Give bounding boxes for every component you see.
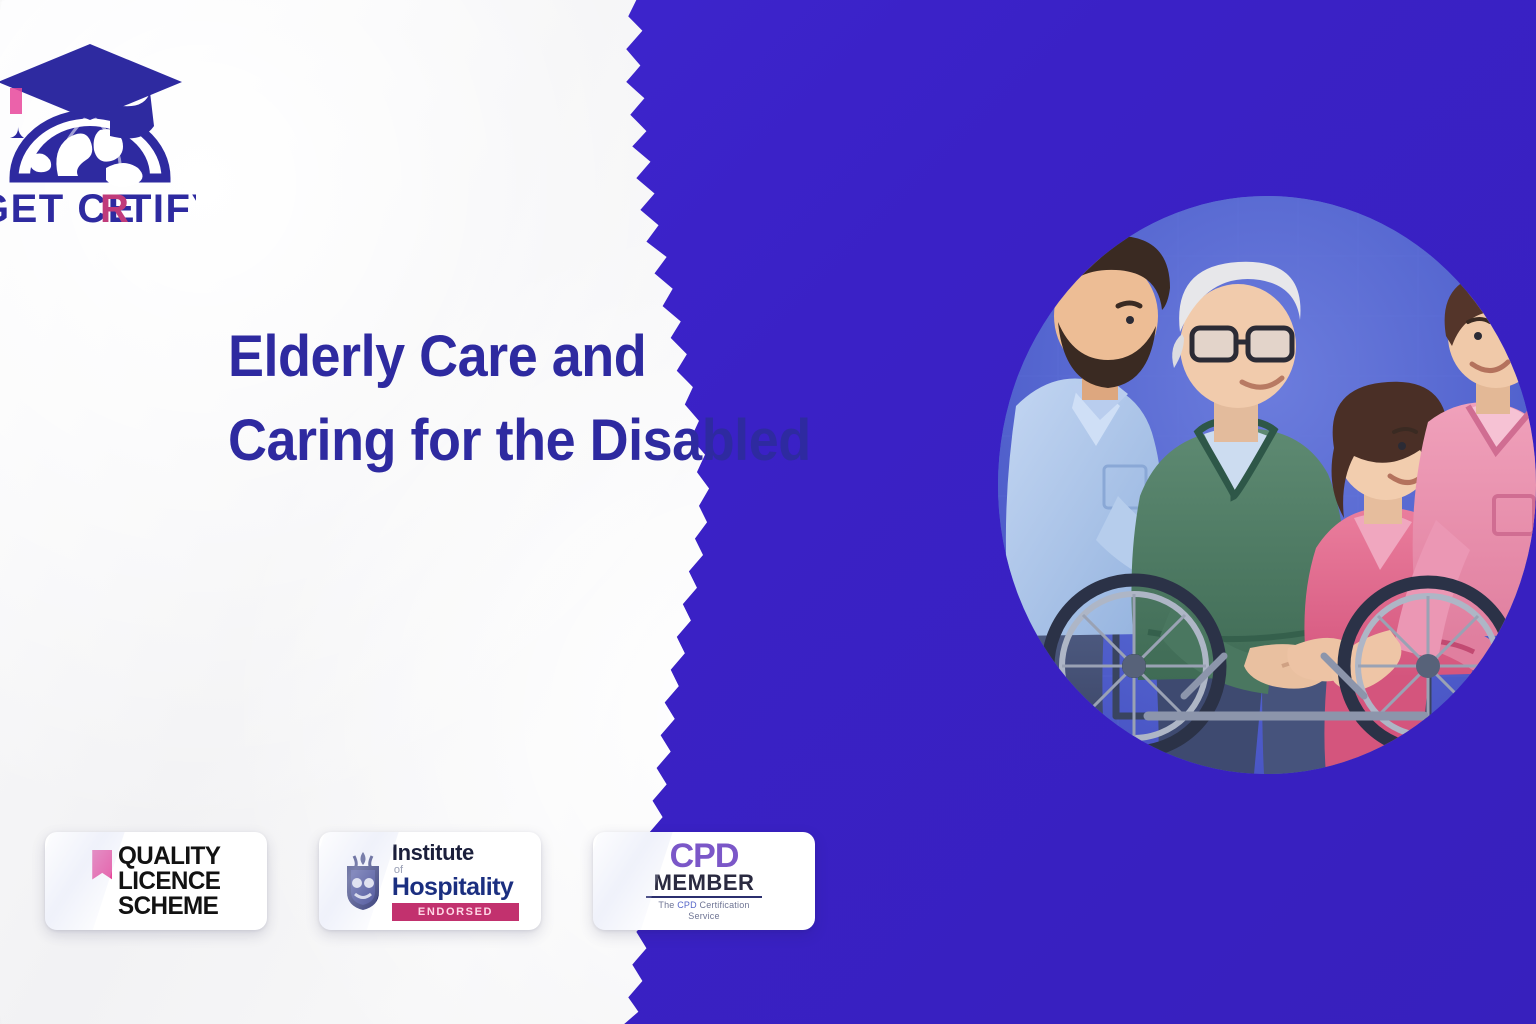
logo-wordmark-tail: TIFY <box>127 187 196 226</box>
logo-wordmark-accent: R <box>100 187 130 226</box>
cpd-line-1: CPD <box>670 840 739 872</box>
accreditation-badges: QUALITY LICENCE SCHEME Institute of Hosp… <box>45 832 815 930</box>
page-title-line-1: Elderly Care and <box>228 315 823 399</box>
badge-institute-of-hospitality[interactable]: Institute of Hospitality ENDORSED <box>319 832 541 930</box>
cpd-line-2: MEMBER <box>654 872 755 894</box>
page-title-line-2: Caring for the Disabled <box>228 399 823 483</box>
ioh-endorsed-tag: ENDORSED <box>392 903 519 921</box>
cpd-sub-line-2: Service <box>688 911 719 921</box>
ioh-line-1: Institute <box>392 842 474 864</box>
cpd-sub-highlight: CPD <box>677 900 697 910</box>
get-certify-logo-svg: GET CE R TIFY <box>0 26 196 226</box>
caregivers-illustration-svg <box>998 196 1536 774</box>
cpd-sub-suffix: Certification <box>697 900 750 910</box>
heraldic-crest-icon <box>341 850 385 912</box>
badge-qls-text: QUALITY LICENCE SCHEME <box>118 844 220 919</box>
cpd-sub-prefix: The <box>658 900 677 910</box>
qls-line-3: SCHEME <box>118 892 218 920</box>
hero-illustration <box>998 196 1536 774</box>
qls-line-1: QUALITY <box>118 842 220 870</box>
badge-quality-licence-scheme[interactable]: QUALITY LICENCE SCHEME <box>45 832 267 930</box>
ioh-line-2: Hospitality <box>392 874 513 900</box>
cpd-subtext: The CPD Certification Service <box>658 900 749 922</box>
bookmark-ribbon-icon <box>92 850 112 880</box>
cpd-divider <box>646 896 762 898</box>
page-title: Elderly Care and Caring for the Disabled <box>228 315 823 483</box>
get-certify-logo[interactable]: GET CE R TIFY <box>0 26 196 226</box>
badge-cpd-member[interactable]: CPD MEMBER The CPD Certification Service <box>593 832 815 930</box>
qls-line-2: LICENCE <box>118 867 220 895</box>
